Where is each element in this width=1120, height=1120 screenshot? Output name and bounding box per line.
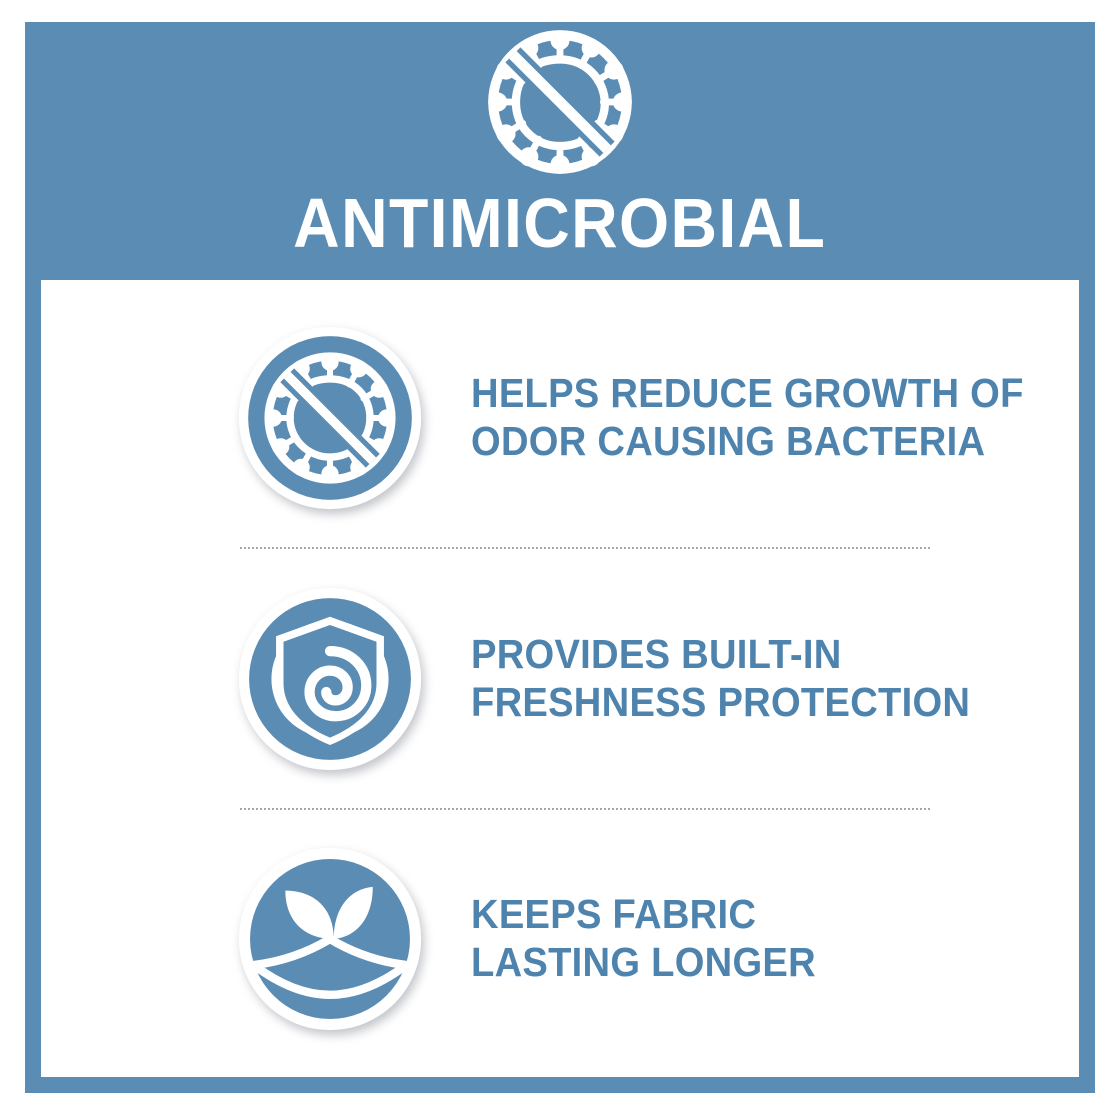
feature-row: KEEPS FABRIC LASTING LONGER bbox=[41, 819, 1079, 1059]
plant-sprout-badge bbox=[237, 846, 423, 1032]
shield-freshness-icon bbox=[237, 586, 423, 772]
feature-label: HELPS REDUCE GROWTH OF ODOR CAUSING BACT… bbox=[471, 370, 1024, 465]
page-title: ANTIMICROBIAL bbox=[293, 188, 826, 258]
feature-label-line-1: KEEPS FABRIC bbox=[471, 891, 816, 939]
feature-label-line-2: LASTING LONGER bbox=[471, 939, 816, 987]
row-divider bbox=[240, 808, 930, 810]
content-card: HELPS REDUCE GROWTH OF ODOR CAUSING BACT… bbox=[41, 280, 1079, 1077]
no-germ-icon bbox=[484, 26, 636, 178]
feature-label-line-1: HELPS REDUCE GROWTH OF bbox=[471, 370, 1024, 418]
plant-sprout-icon bbox=[237, 846, 423, 1032]
feature-label-line-2: ODOR CAUSING BACTERIA bbox=[471, 418, 1024, 466]
no-germ-icon bbox=[237, 325, 423, 511]
no-germ-badge bbox=[237, 325, 423, 511]
row-divider bbox=[240, 547, 930, 549]
antimicrobial-infographic: ANTIMICROBIAL bbox=[0, 0, 1120, 1120]
feature-list: HELPS REDUCE GROWTH OF ODOR CAUSING BACT… bbox=[41, 280, 1079, 1077]
feature-label-line-2: FRESHNESS PROTECTION bbox=[471, 679, 970, 727]
feature-row: HELPS REDUCE GROWTH OF ODOR CAUSING BACT… bbox=[41, 298, 1079, 538]
header: ANTIMICROBIAL bbox=[25, 22, 1095, 280]
feature-label: KEEPS FABRIC LASTING LONGER bbox=[471, 891, 816, 986]
feature-label-line-1: PROVIDES BUILT-IN bbox=[471, 631, 970, 679]
feature-row: PROVIDES BUILT-IN FRESHNESS PROTECTION bbox=[41, 559, 1079, 799]
shield-freshness-badge bbox=[237, 586, 423, 772]
blue-panel: ANTIMICROBIAL bbox=[25, 22, 1095, 1093]
feature-label: PROVIDES BUILT-IN FRESHNESS PROTECTION bbox=[471, 631, 970, 726]
